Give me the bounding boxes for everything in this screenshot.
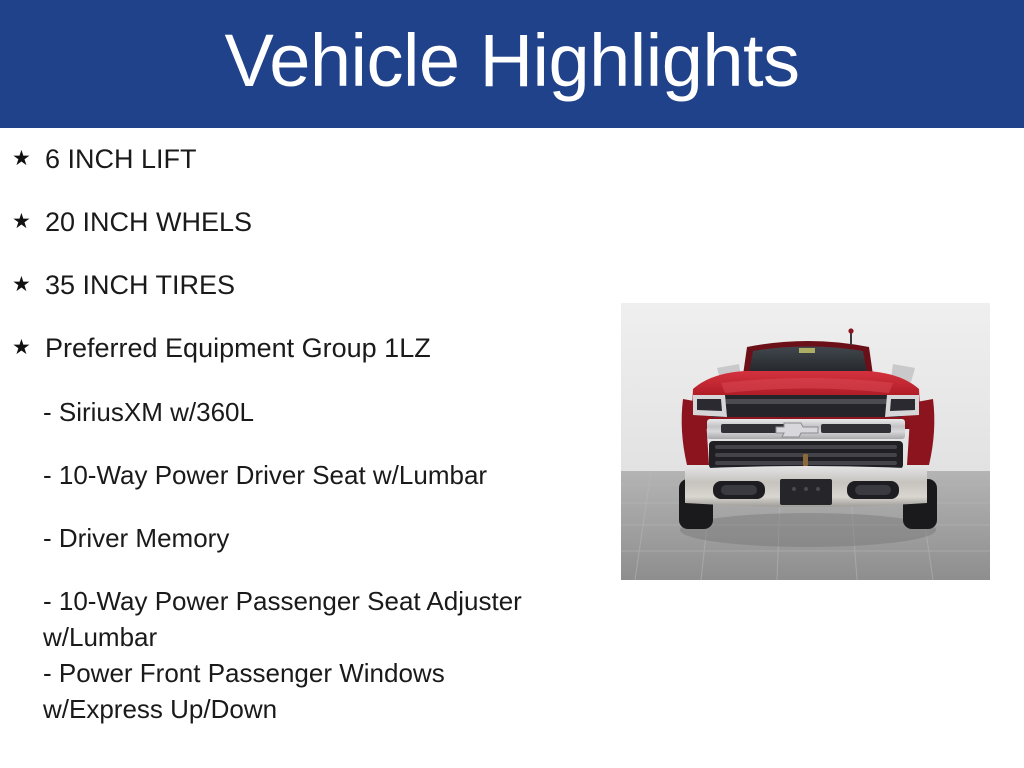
- list-item: - Driver Memory: [0, 520, 600, 583]
- list-item: ★ 35 INCH TIRES: [0, 268, 600, 331]
- sub-list-item-label: - Driver Memory: [43, 520, 523, 556]
- sub-list-item-label: - 10-Way Power Passenger Seat Adjuster w…: [43, 583, 523, 655]
- list-item: ★ 20 INCH WHELS: [0, 205, 600, 268]
- sub-list-item-label: - SiriusXM w/360L: [43, 394, 523, 430]
- list-item-label: 6 INCH LIFT: [45, 142, 197, 176]
- list-item: ★ 6 INCH LIFT: [0, 142, 600, 205]
- star-bullet-icon: ★: [12, 205, 45, 239]
- vehicle-front-photo: [621, 303, 990, 580]
- list-item: - Power Front Passenger Windows w/Expres…: [0, 655, 600, 727]
- main-content: ★ 6 INCH LIFT ★ 20 INCH WHELS ★ 35 INCH …: [0, 128, 1024, 768]
- sub-list-item-label: - Power Front Passenger Windows w/Expres…: [43, 655, 523, 727]
- list-item: - 10-Way Power Driver Seat w/Lumbar: [0, 457, 600, 520]
- list-item: ★ Preferred Equipment Group 1LZ: [0, 331, 600, 394]
- list-item: - SiriusXM w/360L: [0, 394, 600, 457]
- star-bullet-icon: ★: [12, 331, 45, 365]
- header-banner: Vehicle Highlights: [0, 0, 1024, 128]
- vehicle-front-photo-graphic: [621, 303, 990, 580]
- list-item: - 10-Way Power Passenger Seat Adjuster w…: [0, 583, 600, 655]
- star-bullet-icon: ★: [12, 268, 45, 302]
- list-item-label: 35 INCH TIRES: [45, 268, 235, 302]
- list-item-label: 20 INCH WHELS: [45, 205, 252, 239]
- list-item-label: Preferred Equipment Group 1LZ: [45, 331, 431, 365]
- star-bullet-icon: ★: [12, 142, 45, 176]
- page-title: Vehicle Highlights: [224, 24, 799, 104]
- sub-list-item-label: - 10-Way Power Driver Seat w/Lumbar: [43, 457, 523, 493]
- vehicle-highlights-list: ★ 6 INCH LIFT ★ 20 INCH WHELS ★ 35 INCH …: [0, 128, 600, 727]
